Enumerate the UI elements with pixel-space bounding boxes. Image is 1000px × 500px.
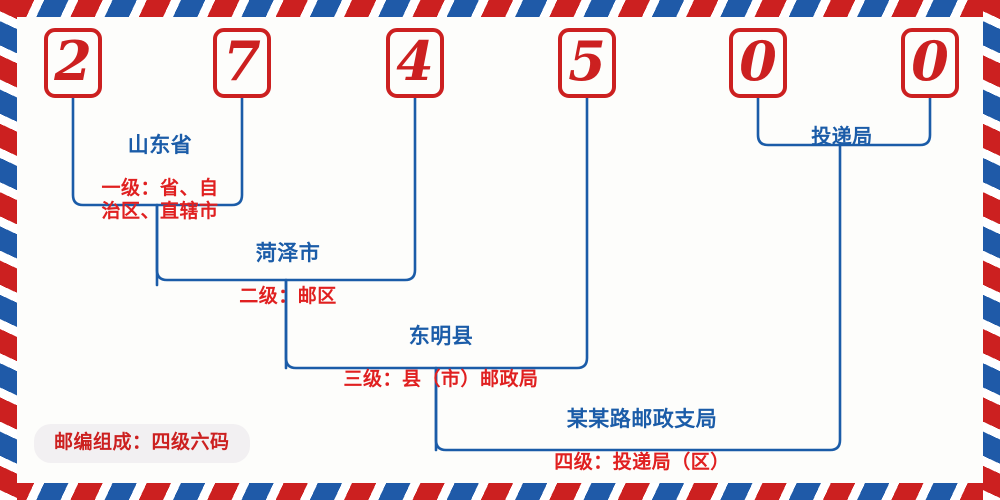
- postcode-digit-4[interactable]: 5: [558, 28, 616, 98]
- postcode-digit-1[interactable]: 2: [44, 28, 102, 98]
- postcode-digit-3[interactable]: 4: [386, 28, 444, 98]
- envelope-border-top: [0, 0, 1000, 17]
- footnote-badge: 邮编组成：四级六码: [34, 424, 250, 463]
- envelope-border-bottom: [0, 483, 1000, 500]
- envelope-border-left: [0, 0, 17, 500]
- level-1-name: 山东省: [60, 133, 260, 158]
- level-3-name: 东明县: [294, 324, 588, 349]
- postcode-digit-5[interactable]: 0: [729, 28, 787, 98]
- level-4-name: 某某路邮政支局: [452, 407, 832, 432]
- envelope-postcode-diagram: 2 7 4 5 0 0 山东省 一级：省、自 治区、直辖市 菏泽市 二级：邮区 …: [0, 0, 1000, 500]
- level-1-detail: 一级：省、自 治区、直辖市: [60, 177, 260, 223]
- envelope-border-right: [983, 0, 1000, 500]
- level-4-label: 某某路邮政支局 四级：投递局（区）: [452, 388, 832, 493]
- postcode-digit-2[interactable]: 7: [213, 28, 271, 98]
- postcode-digit-6[interactable]: 0: [901, 28, 959, 98]
- level-4-detail: 四级：投递局（区）: [452, 451, 832, 474]
- delivery-office-label: 投递局: [752, 106, 932, 168]
- delivery-office-name: 投递局: [752, 125, 932, 149]
- level-2-name: 菏泽市: [180, 241, 396, 266]
